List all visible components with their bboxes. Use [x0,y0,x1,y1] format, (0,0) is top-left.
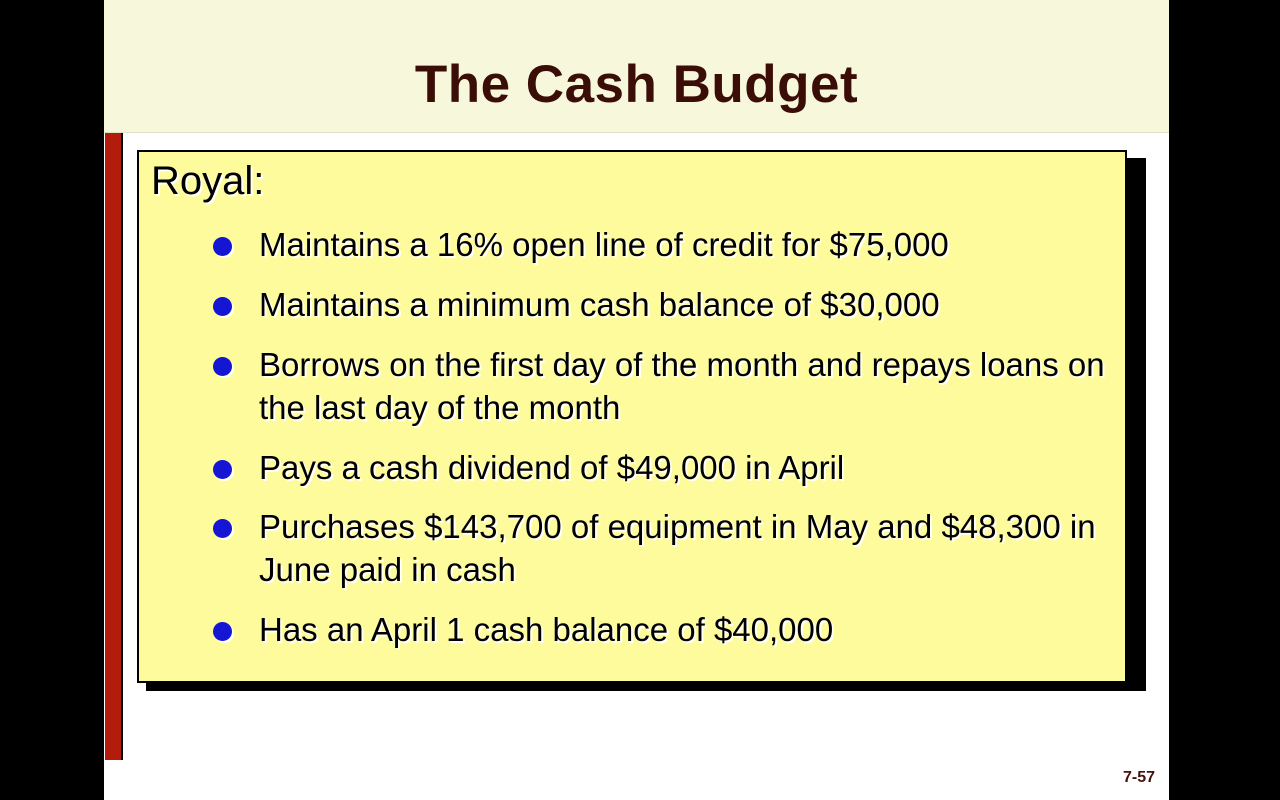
list-item-label: Maintains a minimum cash balance of $30,… [259,284,1111,327]
letterbox-bar-right [1169,0,1280,800]
list-item: Maintains a minimum cash balance of $30,… [201,284,1111,327]
filled-circle-bullet-icon [213,460,232,479]
filled-circle-bullet-icon [213,297,232,316]
list-item: Pays a cash dividend of $49,000 in April [201,447,1111,490]
slide-stage: The Cash Budget Royal: Maintains a 16% o… [0,0,1280,800]
bullet-list: Maintains a 16% open line of credit for … [201,224,1111,652]
list-item: Has an April 1 cash balance of $40,000 [201,609,1111,652]
list-item-label: Pays a cash dividend of $49,000 in April [259,447,1111,490]
left-accent-bar [105,133,123,760]
list-item-label: Maintains a 16% open line of credit for … [259,224,1111,267]
filled-circle-bullet-icon [213,622,232,641]
filled-circle-bullet-icon [213,519,232,538]
slide-page-number: 7-57 [1123,769,1155,787]
content-heading: Royal: [151,160,264,202]
list-item-label: Purchases $143,700 of equipment in May a… [259,506,1111,592]
slide-canvas: The Cash Budget Royal: Maintains a 16% o… [104,0,1169,800]
list-item: Purchases $143,700 of equipment in May a… [201,506,1111,592]
content-box: Royal: Maintains a 16% open line of cred… [137,150,1127,683]
list-item: Maintains a 16% open line of credit for … [201,224,1111,267]
list-item-label: Borrows on the first day of the month an… [259,344,1111,430]
filled-circle-bullet-icon [213,237,232,256]
letterbox-bar-left [0,0,104,800]
list-item: Borrows on the first day of the month an… [201,344,1111,430]
slide-title-band: The Cash Budget [104,0,1169,133]
filled-circle-bullet-icon [213,357,232,376]
slide-title: The Cash Budget [104,58,1169,111]
list-item-label: Has an April 1 cash balance of $40,000 [259,609,1111,652]
